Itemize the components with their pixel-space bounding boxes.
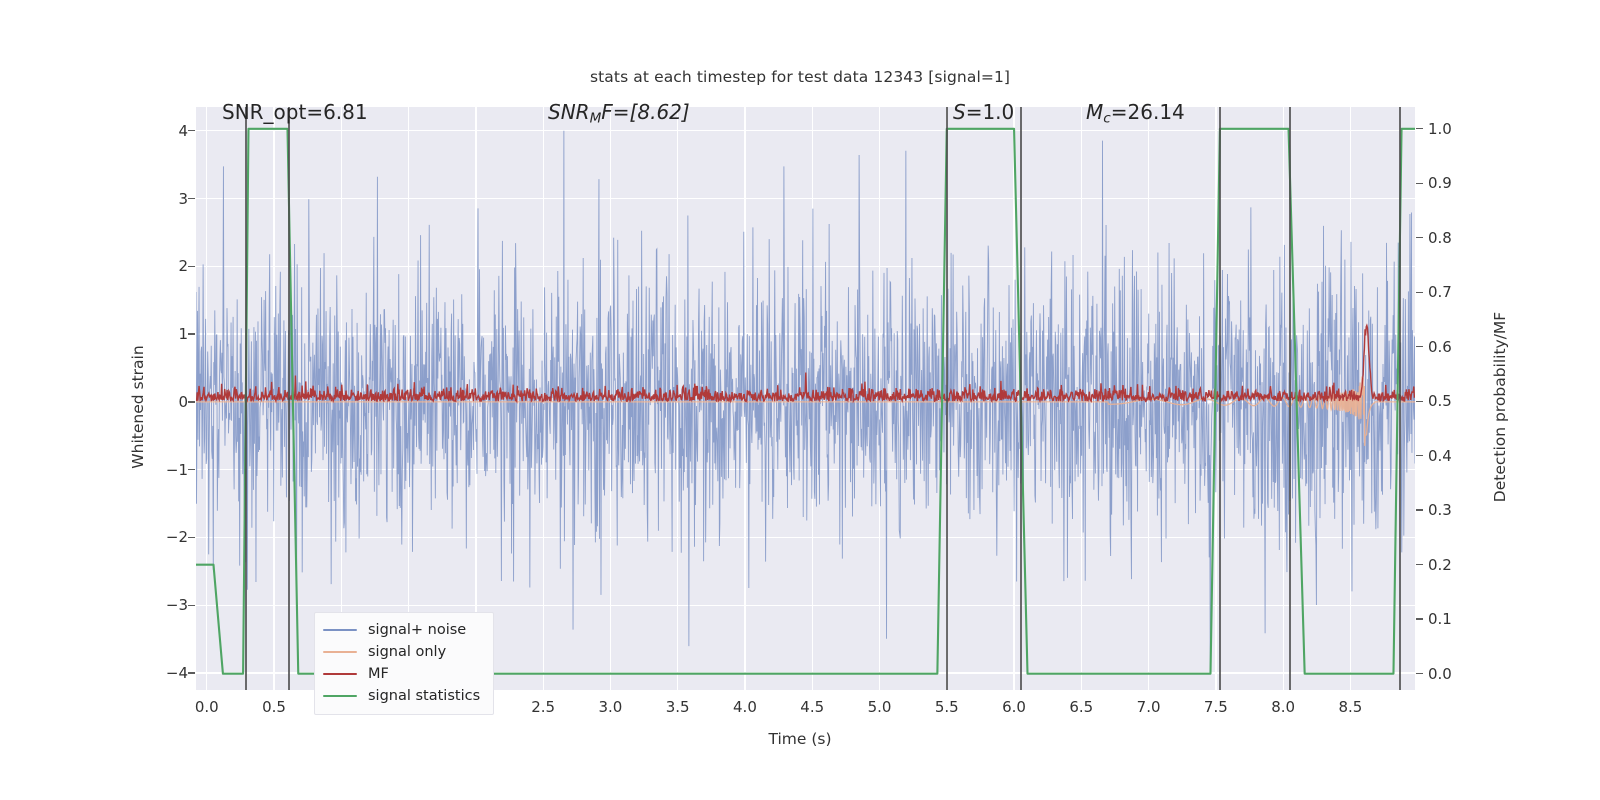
legend-item[interactable]: MF (323, 663, 485, 685)
event-marker-line (1219, 107, 1221, 690)
y-axis-right-label: Detection probability/MF (1491, 247, 1509, 567)
y-axis-left-tick-label: −2 (154, 528, 188, 546)
x-axis-tick-label: 7.5 (1186, 698, 1246, 716)
legend-label: MF (368, 666, 389, 682)
legend-swatch-3 (323, 695, 357, 698)
y-axis-left-tick-label: −3 (154, 596, 188, 614)
y-axis-right-tick-label: 0.2 (1428, 556, 1474, 574)
y-axis-right-tick-mark (1416, 292, 1423, 293)
annotation-chirp-mass: Mc=26.14 (1086, 100, 1185, 126)
x-axis-tick-label: 3.0 (580, 698, 640, 716)
legend-rows: signal+ noisesignal onlyMFsignal statist… (323, 619, 485, 707)
event-marker-line (1399, 107, 1401, 690)
y-axis-right-tick-mark (1416, 237, 1423, 238)
y-axis-left-tick-mark (188, 401, 195, 402)
y-axis-right-tick-mark (1416, 564, 1423, 565)
page-title: stats at each timestep for test data 123… (0, 68, 1600, 86)
y-axis-left-tick-mark (188, 266, 195, 267)
x-axis-tick-label: 3.5 (648, 698, 708, 716)
y-axis-right-tick-label: 0.7 (1428, 283, 1474, 301)
y-axis-left-tick-label: −4 (154, 664, 188, 682)
y-axis-left-tick-mark (188, 672, 195, 673)
event-marker-line (288, 107, 290, 690)
y-axis-left-tick-mark (188, 198, 195, 199)
y-axis-left-tick-mark (188, 605, 195, 606)
legend: signal+ noisesignal onlyMFsignal statist… (314, 612, 494, 715)
x-axis-tick-label: 5.5 (917, 698, 977, 716)
legend-item[interactable]: signal+ noise (323, 619, 485, 641)
annotation-snr-mf: SNRMF=[8.62] (548, 100, 690, 126)
y-axis-right-tick-label: 0.6 (1428, 338, 1474, 356)
x-axis-tick-label: 8.0 (1253, 698, 1313, 716)
y-axis-left-tick-label: 1 (154, 325, 188, 343)
x-axis-tick-label: 0.5 (244, 698, 304, 716)
x-axis-tick-label: 2.5 (513, 698, 573, 716)
y-axis-right-tick-label: 0.9 (1428, 174, 1474, 192)
x-axis-tick-label: 6.5 (1051, 698, 1111, 716)
legend-label: signal only (368, 644, 446, 660)
x-axis-tick-label: 8.5 (1320, 698, 1380, 716)
legend-item[interactable]: signal only (323, 641, 485, 663)
y-axis-right-tick-mark (1416, 183, 1423, 184)
x-axis-tick-label: 4.5 (782, 698, 842, 716)
y-axis-right-tick-mark (1416, 455, 1423, 456)
y-axis-left-tick-mark (188, 469, 195, 470)
y-axis-left-tick-label: 0 (154, 393, 188, 411)
y-axis-right-tick-label: 0.8 (1428, 229, 1474, 247)
x-axis-tick-label: 7.0 (1119, 698, 1179, 716)
y-axis-right-tick-label: 0.3 (1428, 501, 1474, 519)
annotation-s-statistic: S=1.0 (953, 100, 1014, 124)
legend-label: signal statistics (368, 688, 480, 704)
y-axis-right-tick-label: 0.5 (1428, 392, 1474, 410)
legend-item[interactable]: signal statistics (323, 685, 485, 707)
y-axis-left-tick-label: 3 (154, 190, 188, 208)
y-axis-left-tick-label: −1 (154, 461, 188, 479)
legend-label: signal+ noise (368, 622, 466, 638)
legend-swatch-2 (323, 673, 357, 676)
y-axis-right-tick-mark (1416, 401, 1423, 402)
y-axis-right-tick-label: 0.0 (1428, 665, 1474, 683)
annotation-snr-opt: SNR_opt=6.81 (222, 100, 368, 124)
event-marker-line (1289, 107, 1291, 690)
y-axis-left-tick-label: 4 (154, 122, 188, 140)
y-axis-left-tick-mark (188, 333, 195, 334)
x-axis-tick-label: 0.0 (177, 698, 237, 716)
figure-root: stats at each timestep for test data 123… (0, 0, 1600, 800)
x-axis-tick-label: 5.0 (850, 698, 910, 716)
x-axis-label: Time (s) (0, 730, 1600, 748)
y-axis-left-tick-label: 2 (154, 257, 188, 275)
y-axis-right-tick-label: 1.0 (1428, 120, 1474, 138)
y-axis-left-tick-mark (188, 537, 195, 538)
event-marker-line (245, 107, 247, 690)
y-axis-right-tick-mark (1416, 673, 1423, 674)
x-axis-tick-label: 4.0 (715, 698, 775, 716)
y-axis-right-tick-mark (1416, 618, 1423, 619)
legend-swatch-1 (323, 651, 357, 654)
event-marker-line (946, 107, 948, 690)
y-axis-right-tick-mark (1416, 509, 1423, 510)
y-axis-right-tick-mark (1416, 128, 1423, 129)
y-axis-right-tick-label: 0.4 (1428, 447, 1474, 465)
y-axis-left-tick-mark (188, 130, 195, 131)
y-axis-right-tick-mark (1416, 346, 1423, 347)
legend-swatch-0 (323, 629, 357, 632)
y-axis-right-tick-label: 0.1 (1428, 610, 1474, 628)
series-layer (196, 107, 1415, 690)
event-marker-line (1020, 107, 1022, 690)
plot-area (196, 107, 1415, 690)
x-axis-tick-label: 6.0 (984, 698, 1044, 716)
y-axis-left-label: Whitened strain (129, 257, 147, 557)
